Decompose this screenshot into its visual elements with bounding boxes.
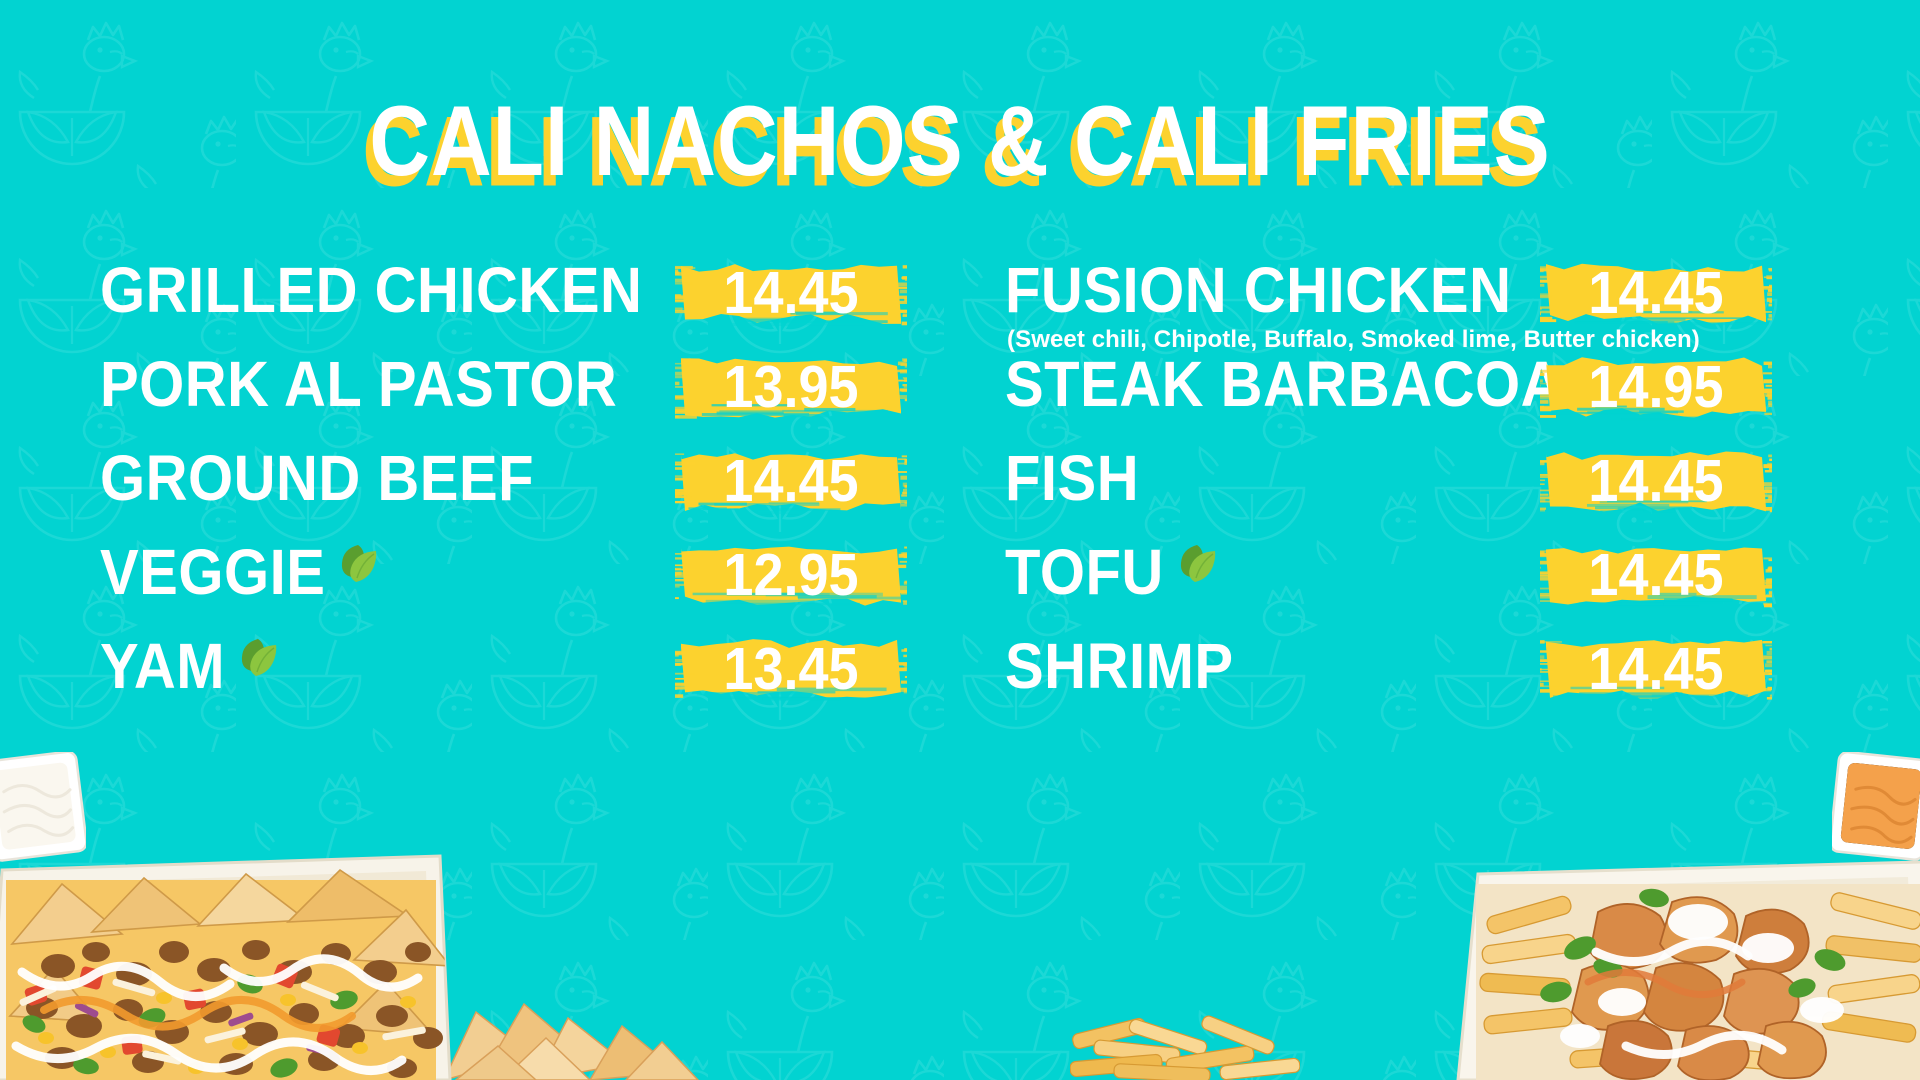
menu-item-price: 14.45 <box>1540 434 1772 529</box>
menu-item-name-block: GROUND BEEF <box>100 440 534 516</box>
menu-item-price: 12.95 <box>675 528 907 623</box>
menu-item-row[interactable]: TOFU 14.45 <box>1005 534 1885 634</box>
vegan-leaf-icon <box>237 634 281 678</box>
menu-item-price: 14.45 <box>1540 622 1772 717</box>
menu-item-row[interactable]: SHRIMP 14.45 <box>1005 628 1885 728</box>
menu-item-price: 14.95 <box>1540 340 1772 435</box>
menu-item-name-block: FUSION CHICKEN <box>1005 252 1511 328</box>
menu-item-price-badge: 13.45 <box>675 626 907 712</box>
menu-item-price-badge: 14.45 <box>1540 532 1772 618</box>
menu-item-name: FUSION CHICKEN <box>1005 253 1511 327</box>
menu-board: CALI NACHOS & CALI FRIES GRILLED CHICKEN… <box>0 0 1920 1080</box>
menu-item-name: STEAK BARBACOA <box>1005 347 1563 421</box>
menu-item-price-badge: 14.45 <box>1540 626 1772 712</box>
menu-item-name-block: FISH <box>1005 440 1139 516</box>
menu-item-name: GROUND BEEF <box>100 441 534 515</box>
menu-item-price: 13.95 <box>675 340 907 435</box>
menu-item-name: YAM <box>100 629 225 703</box>
menu-item-price-badge: 14.45 <box>1540 250 1772 336</box>
page-title: CALI NACHOS & CALI FRIES <box>369 84 1550 198</box>
menu-item-row[interactable]: FISH 14.45 <box>1005 440 1885 540</box>
menu-item-row[interactable]: GROUND BEEF 14.45 <box>100 440 900 540</box>
menu-item-name: TOFU <box>1005 535 1164 609</box>
menu-item-name: VEGGIE <box>100 535 325 609</box>
loaded-fries-photo <box>1430 840 1920 1080</box>
menu-item-name: FISH <box>1005 441 1139 515</box>
chipotle-sauce-cup-photo <box>1832 752 1920 864</box>
menu-item-name: SHRIMP <box>1005 629 1234 703</box>
menu-item-row[interactable]: PORK AL PASTOR 13.95 <box>100 346 900 446</box>
menu-item-price-badge: 12.95 <box>675 532 907 618</box>
vegan-leaf-icon <box>1176 540 1220 584</box>
menu-item-name-block: TOFU <box>1005 534 1220 610</box>
menu-item-row[interactable]: GRILLED CHICKEN 14.45 <box>100 252 900 352</box>
menu-item-name-block: SHRIMP <box>1005 628 1234 704</box>
menu-item-name-block: PORK AL PASTOR <box>100 346 617 422</box>
menu-item-row[interactable]: FUSION CHICKEN(Sweet chili, Chipotle, Bu… <box>1005 252 1885 352</box>
vegan-leaf-icon <box>337 540 381 584</box>
menu-item-price: 13.45 <box>675 622 907 717</box>
french-fries-photo <box>1070 970 1300 1080</box>
menu-item-price-badge: 14.95 <box>1540 344 1772 430</box>
sour-cream-cup-photo <box>0 752 86 864</box>
menu-item-price: 14.45 <box>1540 246 1772 341</box>
menu-item-row[interactable]: YAM 13.45 <box>100 628 900 728</box>
menu-item-price-badge: 14.45 <box>675 438 907 524</box>
menu-item-name-block: VEGGIE <box>100 534 381 610</box>
menu-item-name-block: STEAK BARBACOA <box>1005 346 1563 422</box>
menu-item-price: 14.45 <box>1540 528 1772 623</box>
menu-item-name-block: GRILLED CHICKEN <box>100 252 642 328</box>
menu-item-price: 14.45 <box>675 246 907 341</box>
loaded-nachos-photo <box>0 840 458 1080</box>
menu-title-container: CALI NACHOS & CALI FRIES <box>0 84 1920 181</box>
menu-item-row[interactable]: STEAK BARBACOA 14.95 <box>1005 346 1885 446</box>
menu-item-name-block: YAM <box>100 628 281 704</box>
tortilla-chips-photo <box>440 960 700 1080</box>
menu-item-name: PORK AL PASTOR <box>100 347 617 421</box>
menu-item-price-badge: 14.45 <box>1540 438 1772 524</box>
menu-item-price-badge: 13.95 <box>675 344 907 430</box>
menu-item-row[interactable]: VEGGIE 12.95 <box>100 534 900 634</box>
menu-item-name: GRILLED CHICKEN <box>100 253 642 327</box>
menu-item-price: 14.45 <box>675 434 907 529</box>
menu-item-price-badge: 14.45 <box>675 250 907 336</box>
